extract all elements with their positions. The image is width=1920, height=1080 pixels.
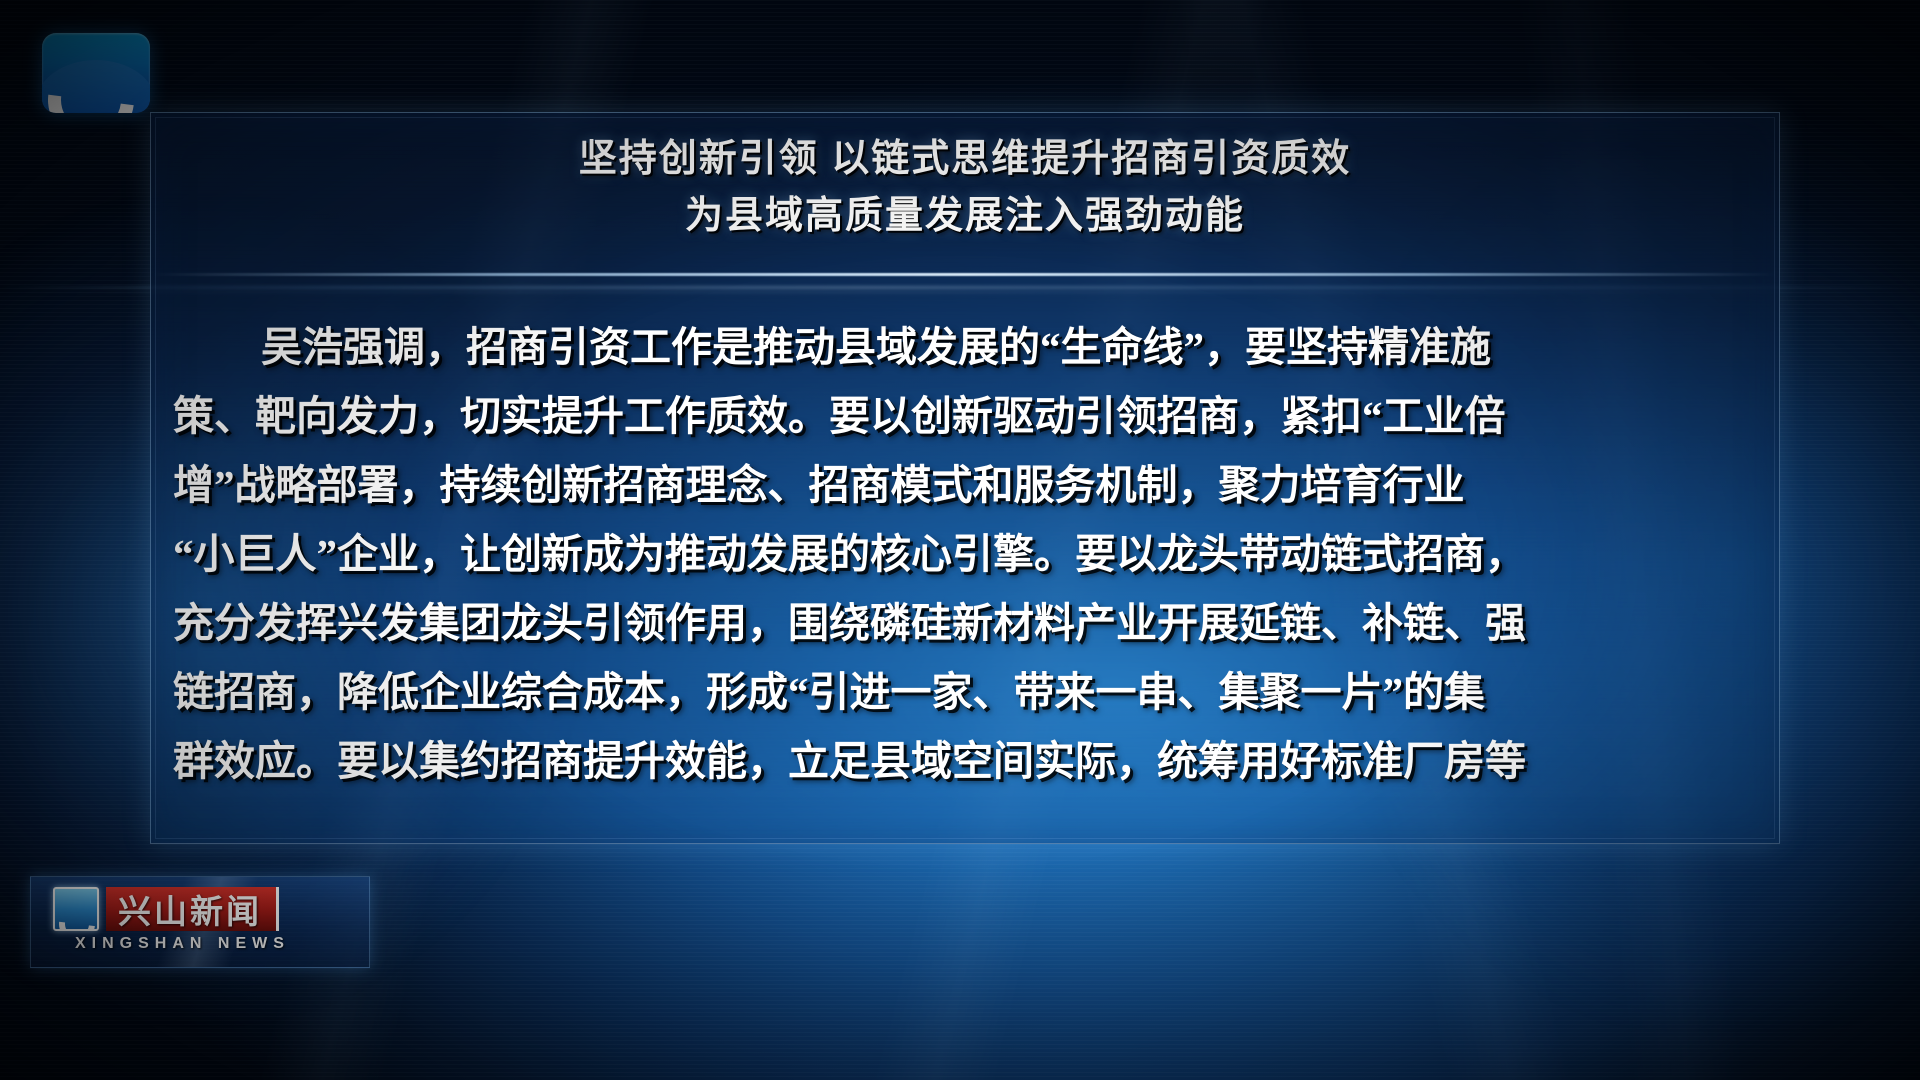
broadcast-screen: 坚持创新引领 以链式思维提升招商引资质效 为县域高质量发展注入强劲动能 吴浩强调… [0, 0, 1920, 1080]
screen-vignette [0, 0, 1920, 1080]
